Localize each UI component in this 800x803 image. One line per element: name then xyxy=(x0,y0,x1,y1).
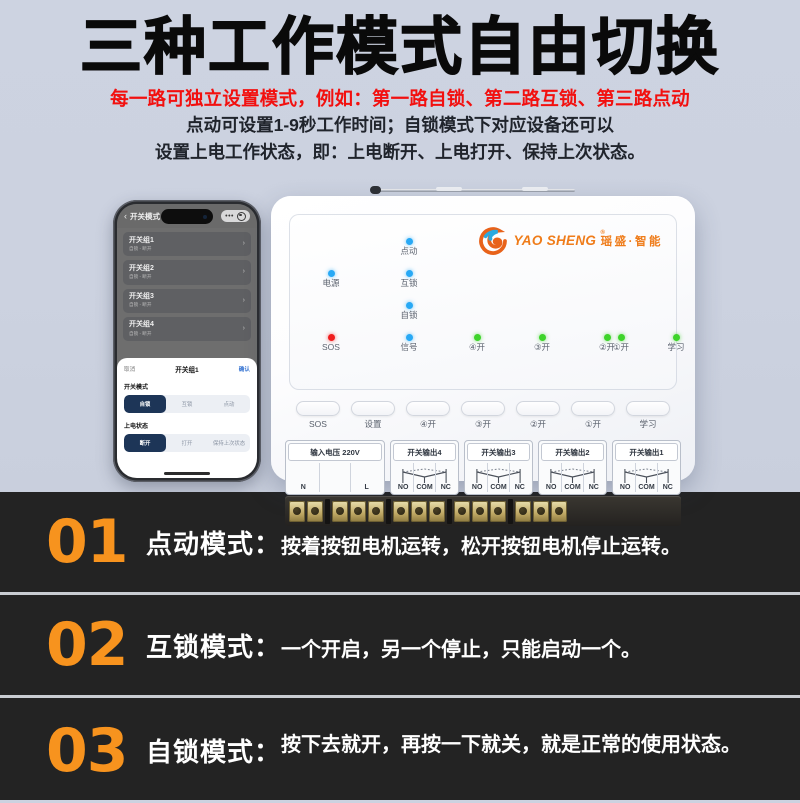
button-sos[interactable]: SOS xyxy=(293,401,343,429)
hero-subtitle-line1: 点动可设置1-9秒工作时间；自锁模式下对应设备还可以 xyxy=(0,113,800,138)
sheet-header: 取消 开关组1 确认 xyxy=(124,364,250,374)
led-dot-icon xyxy=(328,270,335,277)
led-dot-icon xyxy=(474,334,481,341)
led-ch1: ①开 xyxy=(601,334,641,352)
switch-group-list: 开关组1 自锁 - 断开 › 开关组2 自锁 - 断开 › 开关组3 自锁 - … xyxy=(117,228,257,341)
mode-number: 02 xyxy=(46,615,142,675)
terminal-divider xyxy=(386,499,391,524)
brand-text: YAO SHENG® 瑶盛·智能 xyxy=(513,232,663,250)
terminal-pin: NC xyxy=(589,484,599,491)
terminal-label-row: 输入电压 220V N L 开关输出4 xyxy=(285,440,681,495)
mode-description: 按着按钮电机运转，松开按钮电机停止运转。 xyxy=(281,534,681,560)
registered-icon: ® xyxy=(600,230,605,236)
led-interlock: 互锁 xyxy=(389,270,429,288)
list-item[interactable]: 开关组3 自锁 - 断开 › xyxy=(123,289,251,313)
button-ch2[interactable]: ②开 xyxy=(513,401,563,429)
led-label: 点动 xyxy=(389,247,429,256)
button-label: 学习 xyxy=(623,420,673,429)
screw-terminal xyxy=(551,501,567,522)
mode-item-03: 03 自锁模式： 按下去就开，再按一下就关，就是正常的使用状态。 xyxy=(0,698,800,803)
switch-group-name: 开关组4 xyxy=(129,321,245,329)
mode-description: 按下去就开，再按一下就关，就是正常的使用状态。 xyxy=(281,732,741,758)
mode-text: 自锁模式： 按下去就开，再按一下就关，就是正常的使用状态。 xyxy=(146,732,741,769)
terminal-header: 开关输出4 xyxy=(393,443,456,461)
terminal-divider xyxy=(447,499,452,524)
screw-terminal xyxy=(350,501,366,522)
terminal-output-4: 开关输出4 NO COM NC xyxy=(390,440,459,495)
mode-description: 一个开启，另一个停止，只能启动一个。 xyxy=(281,637,641,663)
power-state-segmented-control[interactable]: 断开 打开 保持上次状态 xyxy=(124,434,250,452)
mode-settings-sheet: 取消 开关组1 确认 开关模式 自锁 互锁 点动 上电状态 断开 打开 保持 xyxy=(117,358,257,478)
led-label: ①开 xyxy=(601,343,641,352)
power-option-off[interactable]: 断开 xyxy=(124,434,166,452)
led-label: 电源 xyxy=(311,279,351,288)
led-label: 信号 xyxy=(389,343,429,352)
app-menu-pill[interactable]: ••• xyxy=(221,210,250,222)
mode-number: 03 xyxy=(46,721,142,781)
terminal-pin: NC xyxy=(515,484,525,491)
back-chevron-icon[interactable]: ‹ xyxy=(124,212,127,221)
terminal-output-3: 开关输出3 NO COM NC xyxy=(464,440,533,495)
led-signal: 信号 xyxy=(389,334,429,352)
terminal-pin: COM xyxy=(564,484,580,491)
led-label: 学习 xyxy=(656,343,696,352)
sheet-title: 开关组1 xyxy=(135,364,239,374)
chevron-right-icon: › xyxy=(243,240,245,247)
device-button-row: SOS 设置 ④开 ③开 ②开 xyxy=(293,401,673,429)
switch-mode-label: 开关模式 xyxy=(124,382,250,391)
yaosheng-swirl-icon xyxy=(478,226,508,256)
led-dot-icon xyxy=(539,334,546,341)
hero-subtitle-red: 每一路可独立设置模式，例如：第一路自锁、第二路互锁、第三路点动 xyxy=(0,85,800,111)
phone-mockup: ‹ 开关模式 ••• 开关组1 自锁 - 断开 › 开关组2 xyxy=(113,200,261,482)
terminal-pin: NO xyxy=(398,484,409,491)
terminal-pins: NO COM NC xyxy=(467,463,530,492)
terminal-pin: N xyxy=(301,484,306,491)
button-cap[interactable] xyxy=(406,401,450,416)
mode-option-jog[interactable]: 点动 xyxy=(208,395,250,413)
power-state-label: 上电状态 xyxy=(124,421,250,430)
terminal-pin: NO xyxy=(546,484,557,491)
button-cap[interactable] xyxy=(571,401,615,416)
led-power: 电源 xyxy=(311,270,351,288)
button-label: ③开 xyxy=(458,420,508,429)
led-label: ④开 xyxy=(457,343,497,352)
led-label: 自锁 xyxy=(389,311,429,320)
screw-terminal xyxy=(515,501,531,522)
switch-mode-segmented-control[interactable]: 自锁 互锁 点动 xyxy=(124,395,250,413)
page-title: 三种工作模式自由切换 xyxy=(0,0,800,79)
button-cap[interactable] xyxy=(516,401,560,416)
button-ch3[interactable]: ③开 xyxy=(458,401,508,429)
dynamic-island xyxy=(161,209,213,224)
button-cap[interactable] xyxy=(626,401,670,416)
device-face-panel: YAO SHENG® 瑶盛·智能 电源 点动 互锁 xyxy=(289,214,677,390)
phone-nav-title: 开关模式 xyxy=(130,211,160,222)
product-infographic: 三种工作模式自由切换 每一路可独立设置模式，例如：第一路自锁、第二路互锁、第三路… xyxy=(0,0,800,800)
button-cap[interactable] xyxy=(296,401,340,416)
button-label: ①开 xyxy=(568,420,618,429)
brand-name-en: YAO SHENG® xyxy=(513,233,596,248)
led-dot-icon xyxy=(328,334,335,341)
mode-number: 01 xyxy=(46,512,142,572)
screw-terminal xyxy=(307,501,323,522)
terminal-divider xyxy=(325,499,330,524)
led-dot-icon xyxy=(406,270,413,277)
terminal-pin: L xyxy=(365,484,369,491)
power-option-on[interactable]: 打开 xyxy=(166,434,208,452)
led-dot-icon xyxy=(406,238,413,245)
led-dot-icon xyxy=(673,334,680,341)
button-label: ④开 xyxy=(403,420,453,429)
brand-logo: YAO SHENG® 瑶盛·智能 xyxy=(478,226,663,256)
button-settings[interactable]: 设置 xyxy=(348,401,398,429)
list-item[interactable]: 开关组4 自锁 - 断开 › xyxy=(123,317,251,341)
led-selflock: 自锁 xyxy=(389,302,429,320)
more-dots-icon[interactable]: ••• xyxy=(225,213,234,220)
chevron-right-icon: › xyxy=(243,268,245,275)
close-circle-icon[interactable] xyxy=(237,212,246,221)
led-ch3: ③开 xyxy=(522,334,562,352)
terminal-pin: NC xyxy=(663,484,673,491)
terminal-pins: N L xyxy=(288,463,382,492)
led-label: SOS xyxy=(311,343,351,352)
led-dot-icon xyxy=(406,334,413,341)
led-dot-icon xyxy=(406,302,413,309)
terminal-header: 开关输出1 xyxy=(615,443,678,461)
mode-list-section: 01 点动模式： 按着按钮电机运转，松开按钮电机停止运转。 02 互锁模式： 一… xyxy=(0,492,800,800)
terminal-pin: COM xyxy=(416,484,432,491)
terminal-pins: NO COM NC xyxy=(541,463,604,492)
chevron-right-icon: › xyxy=(243,325,245,332)
terminal-divider xyxy=(508,499,513,524)
button-label: SOS xyxy=(293,420,343,429)
button-cap[interactable] xyxy=(461,401,505,416)
confirm-button[interactable]: 确认 xyxy=(239,365,250,373)
phone-screen: ‹ 开关模式 ••• 开关组1 自锁 - 断开 › 开关组2 xyxy=(117,204,257,478)
screw-terminal xyxy=(332,501,348,522)
terminal-header: 开关输出3 xyxy=(467,443,530,461)
screw-terminal xyxy=(289,501,305,522)
cancel-button[interactable]: 取消 xyxy=(124,365,135,373)
mode-heading: 自锁模式： xyxy=(146,732,281,769)
screw-terminal xyxy=(533,501,549,522)
mode-text: 互锁模式： 一个开启，另一个停止，只能启动一个。 xyxy=(146,627,641,664)
led-ch4: ④开 xyxy=(457,334,497,352)
screw-terminal xyxy=(393,501,409,522)
button-ch4[interactable]: ④开 xyxy=(403,401,453,429)
switch-group-status: 自锁 - 断开 xyxy=(129,247,245,252)
switch-group-name: 开关组1 xyxy=(129,237,245,245)
terminal-pin: NO xyxy=(472,484,483,491)
screw-terminal xyxy=(411,501,427,522)
terminal-header: 输入电压 220V xyxy=(288,443,382,461)
power-option-last[interactable]: 保持上次状态 xyxy=(208,434,250,452)
button-label: ②开 xyxy=(513,420,563,429)
screw-terminal xyxy=(454,501,470,522)
led-sos: SOS xyxy=(311,334,351,352)
terminal-header: 开关输出2 xyxy=(541,443,604,461)
antenna xyxy=(370,186,575,194)
brand-name-cn: 瑶盛·智能 xyxy=(601,236,663,248)
terminal-output-1: 开关输出1 NO COM NC xyxy=(612,440,681,495)
mode-heading: 互锁模式： xyxy=(146,627,281,664)
terminal-power-input: 输入电压 220V N L xyxy=(285,440,385,495)
led-label: ③开 xyxy=(522,343,562,352)
terminal-pin: NO xyxy=(620,484,631,491)
screw-terminal xyxy=(368,501,384,522)
button-cap[interactable] xyxy=(351,401,395,416)
led-dot-icon xyxy=(618,334,625,341)
mode-heading: 点动模式： xyxy=(146,524,281,561)
terminal-pin: NC xyxy=(441,484,451,491)
terminal-pins: NO COM NC xyxy=(393,463,456,492)
switch-group-status: 自锁 - 断开 xyxy=(129,303,245,308)
led-learn: 学习 xyxy=(656,334,696,352)
terminal-output-2: 开关输出2 NO COM NC xyxy=(538,440,607,495)
switch-group-name: 开关组3 xyxy=(129,293,245,301)
antenna-base-icon xyxy=(370,186,381,194)
relay-controller-device: YAO SHENG® 瑶盛·智能 电源 点动 互锁 xyxy=(271,196,695,481)
antenna-segment xyxy=(436,187,462,191)
switch-group-status: 自锁 - 断开 xyxy=(129,275,245,280)
hero-section: 三种工作模式自由切换 每一路可独立设置模式，例如：第一路自锁、第二路互锁、第三路… xyxy=(0,0,800,492)
terminal-pin: COM xyxy=(638,484,654,491)
screw-terminal xyxy=(429,501,445,522)
antenna-segment xyxy=(522,187,548,191)
home-indicator xyxy=(164,472,210,475)
list-item[interactable]: 开关组1 自锁 - 断开 › xyxy=(123,232,251,256)
chevron-right-icon: › xyxy=(243,297,245,304)
screw-terminal xyxy=(472,501,488,522)
terminal-pin: COM xyxy=(490,484,506,491)
list-item[interactable]: 开关组2 自锁 - 断开 › xyxy=(123,260,251,284)
switch-group-name: 开关组2 xyxy=(129,265,245,273)
button-learn[interactable]: 学习 xyxy=(623,401,673,429)
mode-option-selflock[interactable]: 自锁 xyxy=(124,395,166,413)
terminal-pins: NO COM NC xyxy=(615,463,678,492)
led-jog: 点动 xyxy=(389,238,429,256)
mode-item-02: 02 互锁模式： 一个开启，另一个停止，只能启动一个。 xyxy=(0,595,800,695)
switch-group-status: 自锁 - 断开 xyxy=(129,332,245,337)
button-ch1[interactable]: ①开 xyxy=(568,401,618,429)
button-label: 设置 xyxy=(348,420,398,429)
screw-terminal-block xyxy=(285,496,681,526)
mode-text: 点动模式： 按着按钮电机运转，松开按钮电机停止运转。 xyxy=(146,524,681,561)
mode-option-interlock[interactable]: 互锁 xyxy=(166,395,208,413)
hero-subtitle-line2: 设置上电工作状态，即：上电断开、上电打开、保持上次状态。 xyxy=(0,140,800,165)
front-camera-icon xyxy=(203,215,207,219)
led-label: 互锁 xyxy=(389,279,429,288)
screw-terminal xyxy=(490,501,506,522)
